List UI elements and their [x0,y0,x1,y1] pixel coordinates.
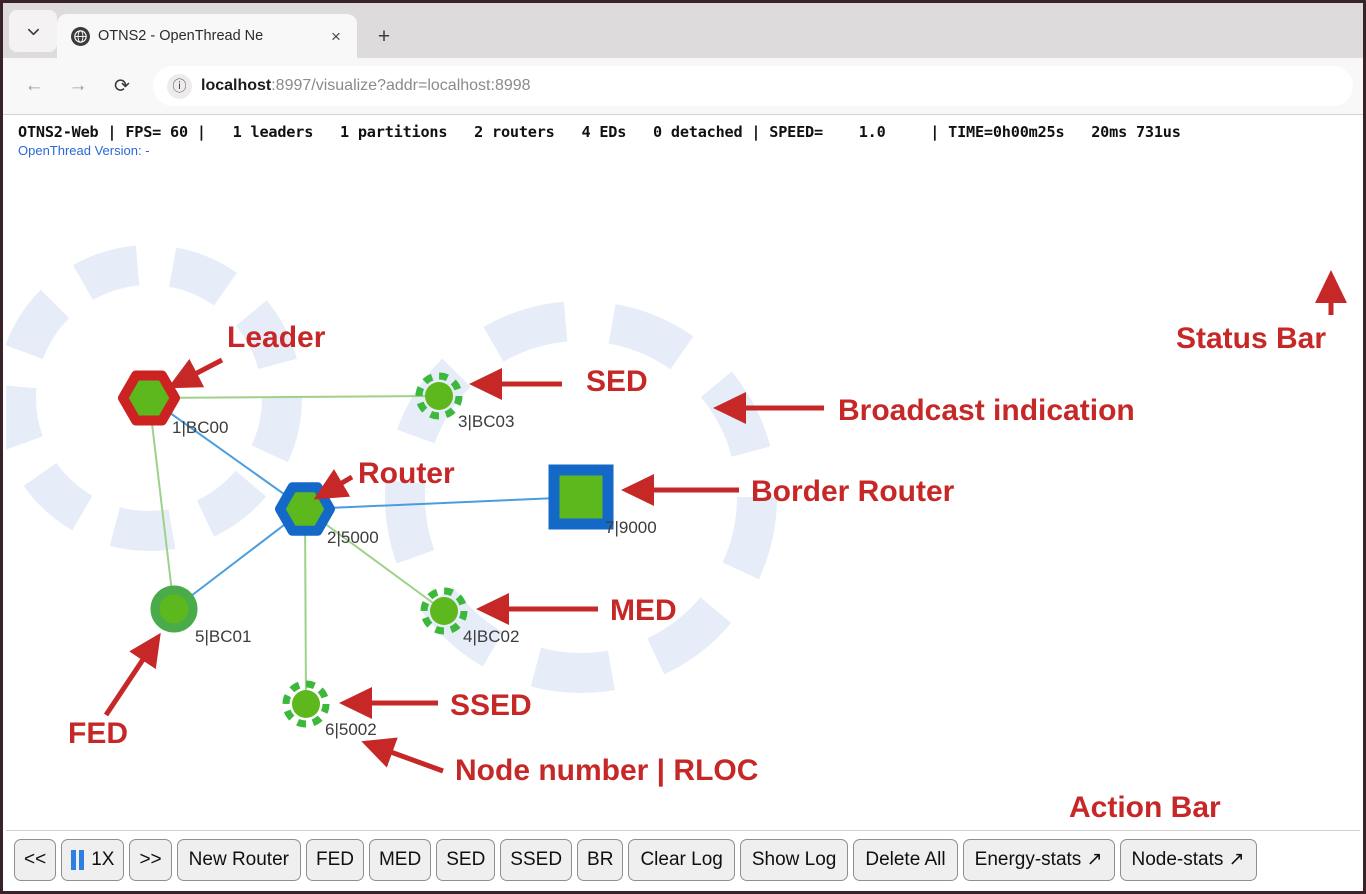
node-label-1: 1|BC00 [172,418,228,437]
node-label-5: 5|BC01 [195,627,251,646]
address-bar[interactable]: ⓘ localhost:8997/visualize?addr=localhos… [153,66,1353,106]
annotation-leader: Leader [227,321,326,354]
delete-all-button[interactable]: Delete All [853,839,957,881]
clear-log-button[interactable]: Clear Log [628,839,734,881]
add-ssed-label: SSED [510,849,562,871]
add-fed-button[interactable]: FED [306,839,364,881]
arrow-fed [106,637,158,715]
node-label-4: 4|BC02 [463,627,519,646]
node-label-7: 7|9000 [605,518,657,537]
status-bar: OTNS2-Web | FPS= 60 | 1 leaders 1 partit… [6,115,1360,163]
node-hexagon [123,376,175,421]
navigation-bar: ← → ⟳ ⓘ localhost:8997/visualize?addr=lo… [3,58,1363,115]
annotation-sed: SED [586,365,648,398]
node-label-3: 3|BC03 [458,412,514,431]
otns-page: OTNS2-Web | FPS= 60 | 1 leaders 1 partit… [6,115,1360,888]
link-1-5 [149,398,174,609]
close-icon[interactable]: × [325,25,347,47]
add-sed-label: SED [446,849,485,871]
annotation-router: Router [358,457,455,490]
add-br-label: BR [587,849,613,871]
node-circle-fill [430,597,458,625]
step-forward-label: >> [139,849,161,871]
node-stats-button[interactable]: Node-stats ↗ [1120,839,1257,881]
node-ring-circle [155,590,193,628]
forward-arrow-icon[interactable]: → [57,65,99,107]
add-fed-label: FED [316,849,354,871]
add-sed-button[interactable]: SED [436,839,495,881]
node-6-ssed[interactable]: 6|5002 [286,684,377,739]
link-1-3 [149,396,439,398]
step-back-label: << [24,849,46,871]
annotation-border-router: Border Router [751,475,955,508]
link-layer [149,396,581,704]
openthread-version: OpenThread Version: - [18,143,1348,158]
action-bar[interactable]: <<1X>>New RouterFEDMEDSEDSSEDBRClear Log… [6,830,1360,888]
node-7-border-router[interactable]: 7|9000 [554,470,657,537]
annotation-action-bar: Action Bar [1069,791,1221,824]
node-circle-fill [425,382,453,410]
show-log-button[interactable]: Show Log [740,839,849,881]
pause-icon [71,850,84,870]
new-router-button[interactable]: New Router [177,839,301,881]
node-label-2: 2|5000 [327,528,379,547]
add-br-button[interactable]: BR [577,839,623,881]
node-label-6: 6|5002 [325,720,377,739]
delete-all-label: Delete All [865,849,945,871]
browser-window: OTNS2 - OpenThread Ne × + ← → ⟳ ⓘ localh… [0,0,1366,894]
site-info-icon[interactable]: ⓘ [167,74,192,99]
url-host: localhost [201,77,271,94]
step-forward-button[interactable]: >> [129,839,171,881]
back-arrow-icon[interactable]: ← [13,65,55,107]
browser-tab[interactable]: OTNS2 - OpenThread Ne × [57,14,357,58]
link-2-6 [305,509,306,704]
energy-stats-label: Energy-stats ↗ [975,848,1103,871]
network-visualization[interactable]: 1|BC002|50003|BC034|BC025|BC016|50027|90… [6,163,1360,830]
arrow-leader [172,360,222,386]
reload-icon[interactable]: ⟳ [101,65,143,107]
globe-icon [71,27,90,46]
tab-title: OTNS2 - OpenThread Ne [98,28,317,44]
annotation-node-rloc: Node number | RLOC [455,754,758,787]
node-circle-fill [292,690,320,718]
annotation-broadcast: Broadcast indication [838,394,1135,427]
node-2-router[interactable]: 2|5000 [280,487,379,547]
clear-log-label: Clear Log [640,849,722,871]
annotation-status-bar: Status Bar [1176,322,1326,355]
tab-list-chevron-icon[interactable] [9,10,57,52]
arrow-node-rloc [366,743,443,771]
node-5-fed[interactable]: 5|BC01 [155,590,251,646]
new-tab-button[interactable]: + [367,19,401,53]
topology-svg: 1|BC002|50003|BC034|BC025|BC016|50027|90… [6,163,1360,835]
show-log-label: Show Log [752,849,837,871]
url-path: :8997/visualize?addr=localhost:8998 [271,77,530,94]
url-text: localhost:8997/visualize?addr=localhost:… [201,77,531,95]
new-router-label: New Router [189,849,289,871]
speed-button[interactable]: 1X [61,839,124,881]
status-line: OTNS2-Web | FPS= 60 | 1 leaders 1 partit… [18,123,1348,141]
step-back-button[interactable]: << [14,839,56,881]
link-2-7 [305,497,581,509]
annotation-ssed: SSED [450,689,532,722]
annotation-med: MED [610,594,677,627]
add-med-button[interactable]: MED [369,839,431,881]
energy-stats-button[interactable]: Energy-stats ↗ [963,839,1115,881]
node-stats-label: Node-stats ↗ [1132,848,1245,871]
annotation-fed: FED [68,717,128,750]
arrow-router [318,477,352,497]
add-ssed-button[interactable]: SSED [500,839,572,881]
tab-strip: OTNS2 - OpenThread Ne × + [3,3,1363,58]
add-med-label: MED [379,849,421,871]
node-square [554,470,608,524]
speed-label: 1X [91,849,114,871]
